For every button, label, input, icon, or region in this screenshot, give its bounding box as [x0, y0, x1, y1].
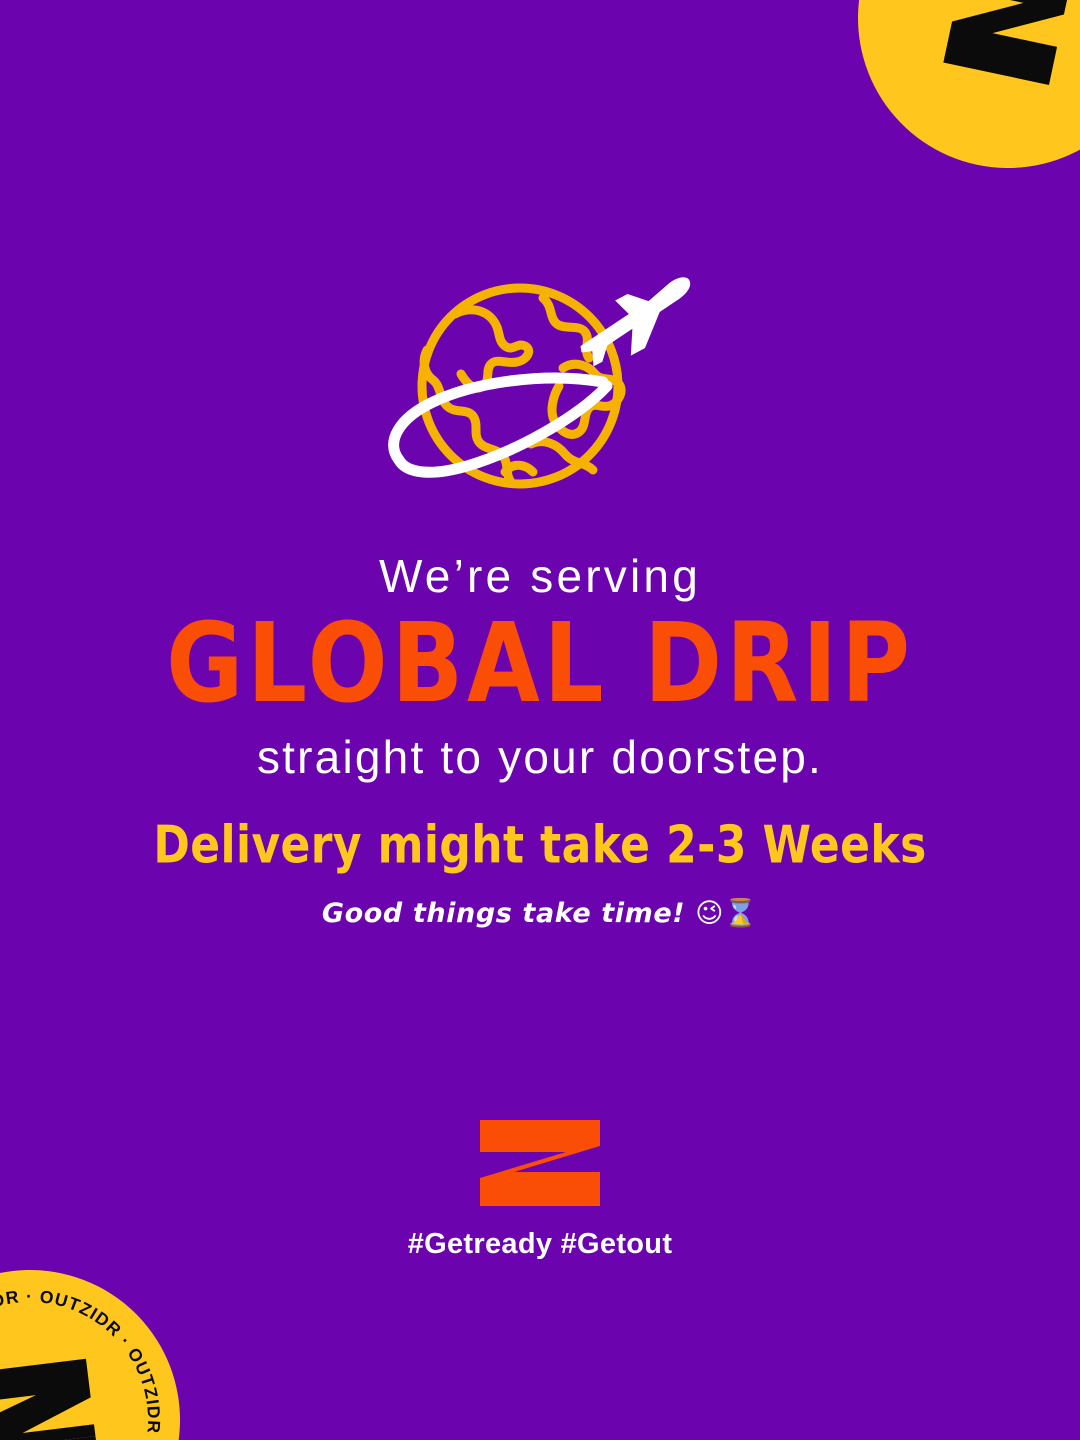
badge-top-right: OUTZIDR · OUTZIDR · OUTZIDR · OUTZIDR ·: [830, 0, 1080, 196]
delivery-main-text: Delivery might take 2-3 Weeks: [0, 815, 1080, 875]
outzidr-z-logo-icon: [476, 1120, 604, 1206]
footer-block: #Getready #Getout: [0, 1120, 1080, 1261]
wink-hourglass-emoji: 😉⌛: [695, 898, 758, 929]
delivery-sub-label: Good things take time!: [322, 898, 685, 929]
promo-poster: OUTZIDR · OUTZIDR · OUTZIDR · OUTZIDR · …: [0, 0, 1080, 1440]
globe-airplane-icon: [355, 276, 725, 511]
delivery-note: Delivery might take 2-3 Weeks Good thing…: [0, 820, 1080, 929]
badge-mark-bottom-left: OUTZIDR: [0, 1336, 114, 1440]
z-mark-wordmark-icon: OUTZIDR: [0, 1336, 114, 1440]
globe-airplane-graphic: [355, 276, 725, 511]
hero-copy: We’re serving GLOBAL DRIP straight to yo…: [0, 550, 1080, 784]
page-title: GLOBAL DRIP: [22, 609, 1059, 719]
hashtags-text: #Getready #Getout: [0, 1228, 1080, 1261]
badge-bottom-left: OUTZIDR · OUTZIDR · OUTZIDR · OUTZIDR · …: [0, 1253, 197, 1440]
eyebrow-text: We’re serving: [0, 550, 1080, 603]
subhead-text: straight to your doorstep.: [0, 731, 1080, 784]
delivery-sub-text: Good things take time! 😉⌛: [0, 897, 1080, 929]
